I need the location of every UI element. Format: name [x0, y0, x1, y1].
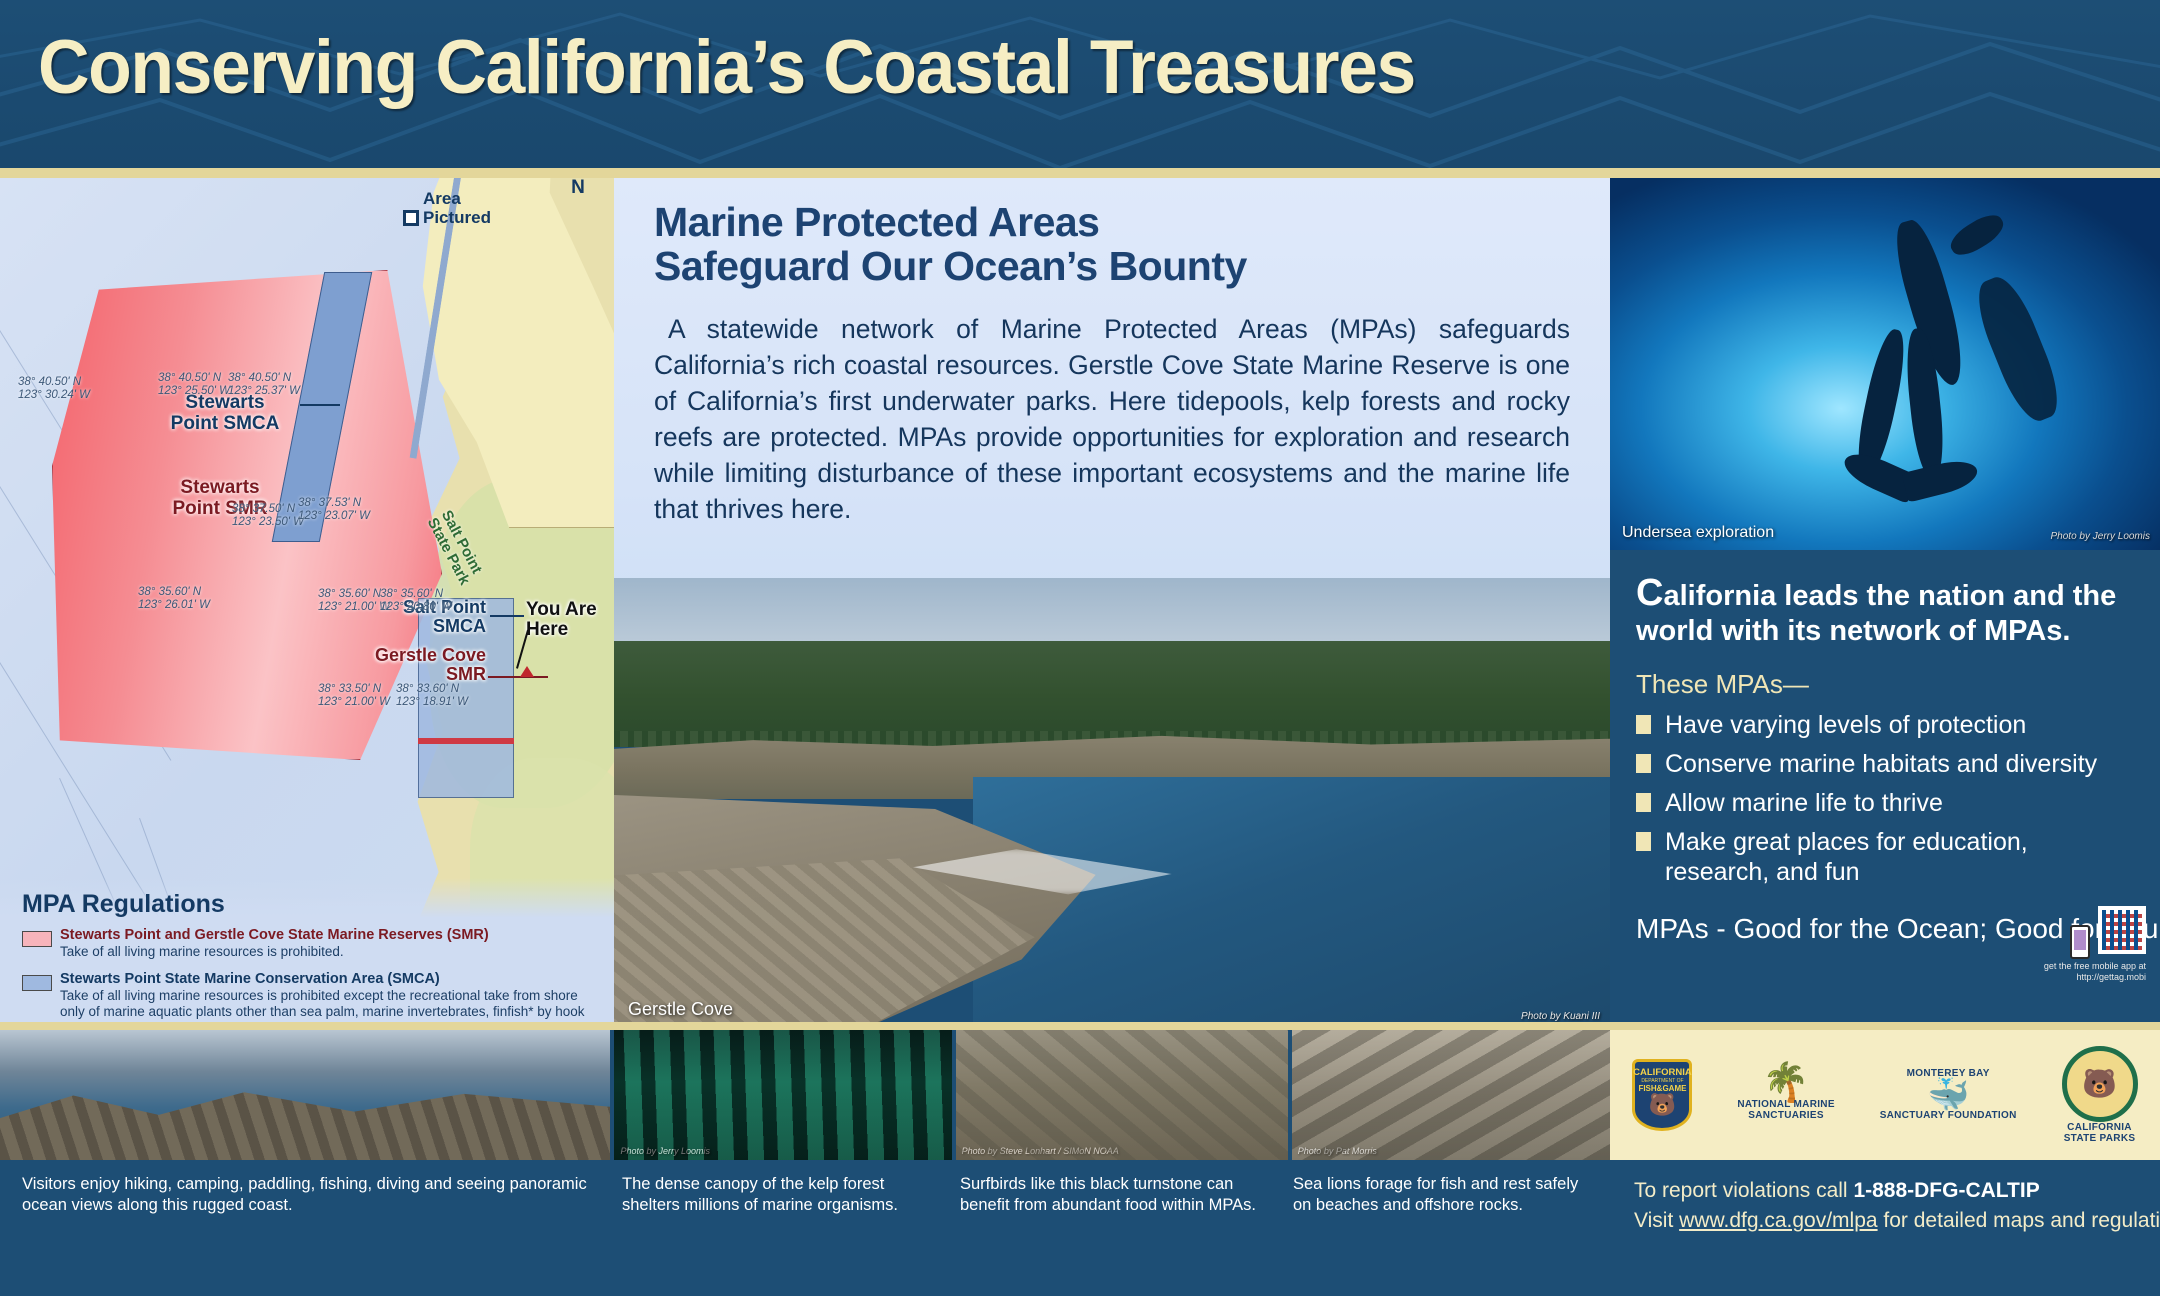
- list-item-label: Allow marine life to thrive: [1665, 788, 1943, 818]
- qr-note: get the free mobile app at http://gettag…: [2044, 961, 2146, 983]
- coordinate-label-bot-w: 38° 33.50' N 123° 21.00' W: [318, 683, 390, 709]
- logo-line-1: CALIFORNIA: [1633, 1067, 1692, 1078]
- intro-title: Marine Protected Areas Safeguard Our Oce…: [654, 200, 1570, 289]
- coord-lat: 38° 33.50' N: [318, 683, 381, 695]
- photo-black-turnstone: Photo by Steve Lonhart / SIMoN NOAA: [956, 1030, 1288, 1160]
- list-item: Make great places for education, researc…: [1636, 827, 2134, 887]
- coord-lon: 123° 25.37' W: [228, 385, 300, 397]
- caption-black-turnstone: Surfbirds like this black turnstone can …: [950, 1160, 1283, 1296]
- photo-strip: Photo by Lecz Panxhot Photo by Jerry Loo…: [0, 1030, 1610, 1160]
- mobile-phone-icon: [2070, 925, 2090, 959]
- photo-credit: Photo by Pat Morris: [1298, 1146, 1377, 1156]
- regulations-title: MPA Regulations: [22, 890, 596, 919]
- diver-arm: [1946, 209, 2009, 262]
- coord-lat: 38° 35.60' N: [380, 588, 443, 600]
- bullet-square-icon: [1636, 793, 1651, 812]
- label-line-1: You Are: [526, 599, 597, 620]
- photo-kelp-forest: Photo by Jerry Loomis: [614, 1030, 951, 1160]
- coord-lon: 123° 23.50' W: [232, 516, 304, 528]
- fish-and-game-shield-icon: CALIFORNIA DEPARTMENT OF FISH&GAME 🐻: [1632, 1059, 1692, 1131]
- logo-caption-line-2: STATE PARKS: [2062, 1133, 2138, 1145]
- coord-lon: 123° 26.01' W: [138, 599, 210, 611]
- mobile-tag-block[interactable]: get the free mobile app at http://gettag…: [2044, 906, 2146, 983]
- undersea-diver-photo: Undersea exploration Photo by Jerry Loom…: [1610, 178, 2160, 550]
- coord-lat: 38° 40.50' N: [158, 372, 221, 384]
- coord-lon: 123° 23.07' W: [298, 510, 370, 522]
- coord-lon: 123° 21.00' W: [318, 696, 390, 708]
- coord-lat: 38° 33.60' N: [396, 683, 459, 695]
- facts-bullet-list: Have varying levels of protection Conser…: [1636, 710, 2134, 887]
- caption-coastal-view: Visitors enjoy hiking, camping, paddling…: [0, 1160, 612, 1296]
- hero-photo-credit: Photo by Kuani III: [1521, 1011, 1600, 1022]
- bottom-gold-rule: [0, 1022, 2160, 1030]
- map-label-stewarts-point-smca: Stewarts Point SMCA: [150, 393, 300, 434]
- list-item: Allow marine life to thrive: [1636, 788, 2134, 818]
- intro-title-line-1: Marine Protected Areas: [654, 199, 1100, 245]
- list-item: Have varying levels of protection: [1636, 710, 2134, 740]
- diver-photo-credit: Photo by Jerry Loomis: [2051, 531, 2151, 542]
- label-line-2: SMCA: [433, 616, 486, 636]
- intro-panel: Marine Protected Areas Safeguard Our Oce…: [614, 178, 1610, 618]
- photo-credit: Photo by Jerry Loomis: [620, 1146, 710, 1156]
- coordinate-label-sw: 38° 35.60' N 123° 26.01' W: [138, 586, 210, 612]
- visit-suffix: for detailed maps and regulations: [1878, 1209, 2160, 1232]
- list-item-label: Make great places for education, researc…: [1665, 827, 2134, 887]
- visit-prefix: Visit: [1634, 1209, 1679, 1232]
- regional-map[interactable]: Stewarts Point SMCA Stewarts Point SMR S…: [0, 178, 614, 1030]
- bullet-square-icon: [1636, 832, 1651, 851]
- breaching-whale-icon: 🐳: [1880, 1080, 2017, 1111]
- list-item: Conserve marine habitats and diversity: [1636, 749, 2134, 779]
- label-line-1: Area: [423, 189, 461, 208]
- regulation-heading: Stewarts Point State Marine Conservation…: [60, 971, 596, 988]
- photo-forest: [614, 641, 1610, 740]
- poster-root: Conserving California’s Coastal Treasure…: [0, 0, 2160, 1296]
- bullet-square-icon: [1636, 754, 1651, 773]
- photo-sea-lions: Photo by Pat Morris: [1292, 1030, 1610, 1160]
- diver-fin: [1901, 455, 1980, 502]
- bear-icon: 🐻: [1649, 1094, 1676, 1116]
- microsoft-tag-qr-icon[interactable]: [2098, 906, 2146, 954]
- leader-line: [488, 676, 548, 678]
- facts-title-line-2: world with its network of MPAs.: [1636, 615, 2070, 647]
- qr-note-line-1: get the free mobile app at: [2044, 961, 2146, 971]
- legend-swatch-smr: [22, 931, 52, 947]
- label-line-2: Point SMCA: [171, 413, 280, 434]
- hero-caption: Gerstle Cove: [628, 999, 733, 1020]
- label-line-2: Here: [526, 619, 568, 640]
- coordinate-label-n-mid: 38° 40.50' N 123° 25.50' W: [158, 372, 230, 398]
- coordinate-label-mid-w: 38° 37.50' N 123° 23.50' W: [232, 503, 304, 529]
- facts-title: California leads the nation and the worl…: [1636, 572, 2134, 647]
- area-pictured-label: Area Pictured: [423, 190, 491, 227]
- coord-lat: 38° 40.50' N: [18, 376, 81, 388]
- header-gold-rule: [0, 168, 2160, 178]
- california-inset-map[interactable]: Area Pictured N: [385, 178, 614, 528]
- photo-credit: Photo by Lecz Panxhot: [6, 1146, 99, 1156]
- gerstle-cove-photo: Gerstle Cove Photo by Kuani III: [614, 578, 1610, 1030]
- logo-caption-line-2: SANCTUARIES: [1737, 1110, 1834, 1122]
- regulation-body: Take of all living marine resources is p…: [60, 944, 489, 960]
- regulation-heading: Stewarts Point and Gerstle Cove State Ma…: [60, 927, 489, 944]
- partner-logo-bar: CALIFORNIA DEPARTMENT OF FISH&GAME 🐻 🌴 N…: [1610, 1030, 2160, 1160]
- logo-caption-line-1: SANCTUARY FOUNDATION: [1880, 1110, 2017, 1122]
- coord-lat: 38° 37.50' N: [232, 503, 295, 515]
- coord-lat: 38° 37.53' N: [298, 497, 361, 509]
- whale-tail-icon: 🌴: [1737, 1068, 1834, 1098]
- caption-kelp-forest: The dense canopy of the kelp forest shel…: [612, 1160, 950, 1296]
- logo-national-marine-sanctuaries: 🌴 NATIONAL MARINE SANCTUARIES: [1737, 1068, 1834, 1121]
- coordinate-label-ne: 38° 40.50' N 123° 25.37' W: [228, 372, 300, 398]
- coord-lon: 123° 18.91' W: [396, 696, 468, 708]
- caltip-phone-number[interactable]: 1-888-DFG-CALTIP: [1853, 1179, 2039, 1202]
- facts-title-dropcap: C: [1636, 572, 1663, 614]
- mpa-regulations-legend: MPA Regulations Stewarts Point and Gerst…: [0, 878, 614, 1030]
- area-pictured-marker-icon: [403, 210, 419, 226]
- contact-info: To report violations call 1-888-DFG-CALT…: [1610, 1160, 2160, 1296]
- report-prefix: To report violations call: [1634, 1179, 1853, 1202]
- north-letter: N: [563, 178, 593, 197]
- you-are-here-marker-icon: [520, 666, 534, 677]
- coordinate-label-s-e: 38° 35.60' N 123° 20.80' W: [380, 588, 452, 614]
- label-line-2: Pictured: [423, 208, 491, 227]
- visit-website-line: Visit www.dfg.ca.gov/mlpa for detailed m…: [1634, 1206, 2140, 1236]
- north-arrow-icon: N: [563, 178, 593, 197]
- coord-lat: 38° 40.50' N: [228, 372, 291, 384]
- leader-line: [490, 615, 524, 617]
- logo-california-state-parks: 🐻 CALIFORNIA STATE PARKS: [2062, 1046, 2138, 1145]
- list-item-label: Conserve marine habitats and diversity: [1665, 749, 2097, 779]
- coord-lon: 123° 25.50' W: [158, 385, 230, 397]
- coord-lon: 123° 20.80' W: [380, 601, 452, 613]
- diver-second-diver: [1968, 270, 2069, 427]
- report-violations-line: To report violations call 1-888-DFG-CALT…: [1634, 1176, 2140, 1206]
- logo-caption-line-1: CALIFORNIA: [2062, 1122, 2138, 1134]
- gerstle-cove-smr-polygon[interactable]: [418, 738, 514, 744]
- coord-lat: 38° 35.60' N: [138, 586, 201, 598]
- intro-title-line-2: Safeguard Our Ocean’s Bounty: [654, 243, 1247, 289]
- header-banner: Conserving California’s Coastal Treasure…: [0, 0, 2160, 168]
- label-line-2: SMR: [446, 664, 486, 684]
- coordinate-label-bot-e: 38° 33.60' N 123° 18.91' W: [396, 683, 468, 709]
- caption-sea-lions: Sea lions forage for fish and rest safel…: [1283, 1160, 1610, 1296]
- diver-caption: Undersea exploration: [1622, 524, 1774, 542]
- intro-body-text: A statewide network of Marine Protected …: [654, 311, 1570, 527]
- list-item-label: Have varying levels of protection: [1665, 710, 2026, 740]
- coord-lon: 123° 30.24' W: [18, 389, 90, 401]
- map-label-gerstle-cove-smr: Gerstle Cove SMR: [340, 646, 486, 684]
- label-line-1: Stewarts: [180, 477, 259, 498]
- qr-note-url[interactable]: http://gettag.mobi: [2076, 972, 2146, 982]
- label-line-1: Gerstle Cove: [375, 645, 486, 665]
- facts-title-line-1: alifornia leads the nation and the: [1663, 580, 2116, 612]
- bullet-square-icon: [1636, 715, 1651, 734]
- page-title: Conserving California’s Coastal Treasure…: [38, 24, 1415, 111]
- photo-coastal-view: Photo by Lecz Panxhot: [0, 1030, 610, 1160]
- regulation-item: Stewarts Point and Gerstle Cove State Ma…: [22, 927, 596, 961]
- coordinate-label-nw: 38° 40.50' N 123° 30.24' W: [18, 376, 90, 402]
- logo-caption-line-1: NATIONAL MARINE: [1737, 1099, 1834, 1111]
- leader-line: [300, 404, 340, 406]
- inset-state-shape: [385, 178, 614, 528]
- map-label-you-are-here: You Are Here: [526, 600, 612, 640]
- mlpa-website-link[interactable]: www.dfg.ca.gov/mlpa: [1679, 1209, 1877, 1232]
- mpa-facts-panel: California leads the nation and the worl…: [1610, 550, 2160, 1030]
- photo-caption-bar: Visitors enjoy hiking, camping, paddling…: [0, 1160, 1610, 1296]
- state-parks-seal-icon: 🐻: [2062, 1046, 2138, 1122]
- facts-subhead: These MPAs—: [1636, 669, 2134, 700]
- coord-lat: 38° 35.60' N: [318, 588, 381, 600]
- legend-swatch-stewarts-smca: [22, 975, 52, 991]
- logo-california-fish-and-game: CALIFORNIA DEPARTMENT OF FISH&GAME 🐻: [1632, 1059, 1692, 1131]
- logo-monterey-bay-sanctuary-foundation: MONTEREY BAY 🐳 SANCTUARY FOUNDATION: [1880, 1068, 2017, 1122]
- photo-credit: Photo by Steve Lonhart / SIMoN NOAA: [962, 1146, 1119, 1156]
- coordinate-label-mid-e: 38° 37.53' N 123° 23.07' W: [298, 497, 370, 523]
